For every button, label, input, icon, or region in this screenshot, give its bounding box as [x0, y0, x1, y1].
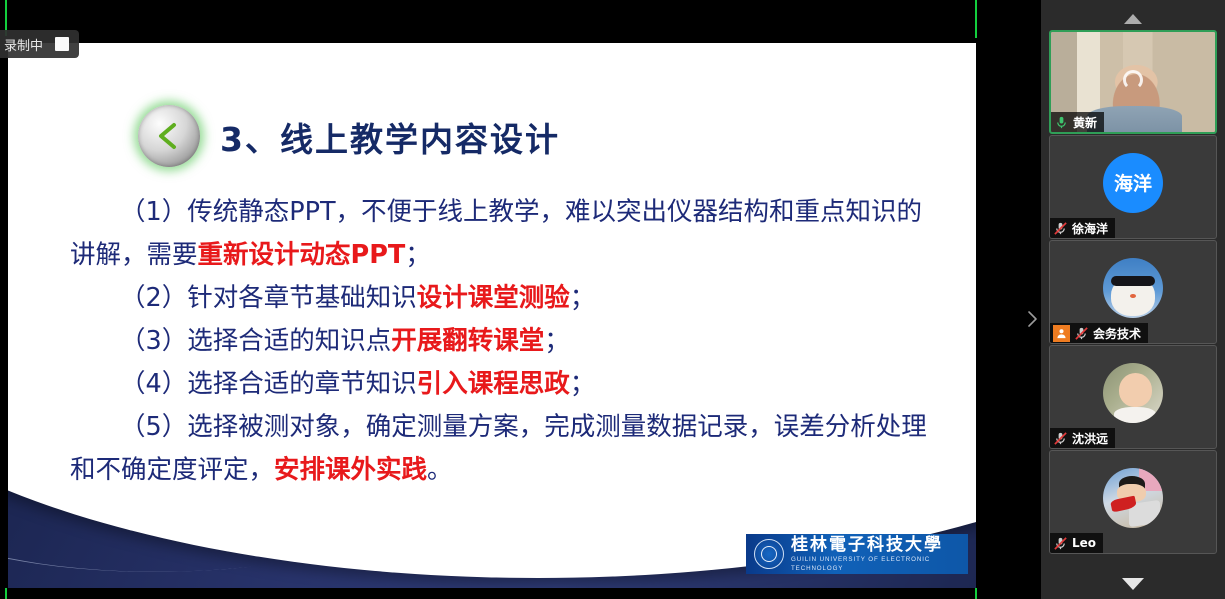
- highlighted-text: 引入课程思政: [417, 369, 570, 399]
- nameplate: 黄新: [1051, 112, 1104, 132]
- avatar: [1103, 258, 1163, 318]
- slide-body: （1）传统静态PPT，不便于线上教学，难以突出仪器结构和重点知识的讲解，需要重新…: [70, 191, 930, 492]
- slide-title: 3、线上教学内容设计: [220, 113, 560, 161]
- participant-name: Leo: [1072, 536, 1096, 550]
- mic-on-icon: [1054, 115, 1069, 130]
- participant-name: 黄新: [1073, 114, 1097, 131]
- avatar: 海洋: [1103, 153, 1163, 213]
- university-name-cn: 桂林電子科技大學: [791, 536, 960, 555]
- triangle-up-icon: [1124, 14, 1142, 24]
- participant-tile[interactable]: 海洋 徐海洋: [1049, 135, 1217, 239]
- body-text: ；: [544, 326, 570, 356]
- highlighted-text: 安排课外实践: [274, 455, 427, 485]
- share-border-left-bottom: [5, 588, 7, 599]
- slide-bullet-5: （5）选择被测对象，确定测量方案，完成测量数据记录，误差分析处理和不确定度评定，…: [70, 406, 930, 492]
- university-logo: 桂林電子科技大學 GUILIN UNIVERSITY OF ELECTRONIC…: [746, 534, 968, 574]
- meeting-screen: 录制中 3、线上教学内容设计 （1）传统静态PPT，不便于线上教学，难以突出仪器…: [0, 0, 1225, 599]
- participant-tile[interactable]: 沈洪远: [1049, 345, 1217, 449]
- participant-tile[interactable]: Leo: [1049, 450, 1217, 554]
- participant-name: 徐海洋: [1072, 220, 1108, 237]
- participant-name: 会务技术: [1093, 325, 1141, 342]
- scroll-up-button[interactable]: [1041, 0, 1225, 30]
- body-text: （3）选择合适的知识点: [120, 326, 391, 356]
- share-border-right: [975, 0, 977, 38]
- body-text: （2）针对各章节基础知识: [120, 283, 417, 313]
- body-text: （4）选择合适的章节知识: [120, 369, 417, 399]
- nameplate: 会务技术: [1050, 323, 1148, 343]
- highlighted-text: 设计课堂测验: [417, 283, 570, 313]
- participant-tile[interactable]: 黄新: [1049, 30, 1217, 134]
- highlighted-text: 开展翻转课堂: [391, 326, 544, 356]
- chevron-right-icon[interactable]: [1024, 305, 1040, 333]
- body-text: （5）选择被测对象，确定测量方案，完成测量数据记录，误差分析处理和不确定度评定，: [70, 412, 927, 485]
- participant-filmstrip: 黄新 海洋 徐海洋: [1041, 0, 1225, 599]
- slide-bullet-1: （1）传统静态PPT，不便于线上教学，难以突出仪器结构和重点知识的讲解，需要重新…: [70, 191, 930, 277]
- mic-muted-icon: [1053, 431, 1068, 446]
- mic-muted-icon: [1053, 536, 1068, 551]
- shared-slide: 3、线上教学内容设计 （1）传统静态PPT，不便于线上教学，难以突出仪器结构和重…: [8, 43, 976, 588]
- nameplate: 沈洪远: [1050, 428, 1115, 448]
- slide-bullet-4: （4）选择合适的章节知识引入课程思政；: [70, 363, 930, 406]
- mic-muted-icon: [1053, 221, 1068, 236]
- slide-bullet-2: （2）针对各章节基础知识设计课堂测验；: [70, 277, 930, 320]
- university-seal-icon: [754, 539, 784, 569]
- scroll-down-button[interactable]: [1041, 569, 1225, 599]
- body-text: ；: [405, 240, 431, 270]
- participant-name: 沈洪远: [1072, 430, 1108, 447]
- recording-label: 录制中: [4, 35, 43, 54]
- avatar-initials: 海洋: [1114, 169, 1152, 196]
- recording-indicator[interactable]: 录制中: [0, 30, 79, 58]
- participant-tiles: 黄新 海洋 徐海洋: [1041, 30, 1225, 569]
- host-person-icon: [1053, 325, 1070, 342]
- stop-recording-button[interactable]: [55, 37, 69, 51]
- body-text: 。: [427, 455, 453, 485]
- body-text: ；: [570, 283, 596, 313]
- triangle-down-icon: [1122, 578, 1144, 590]
- body-text: ；: [570, 369, 596, 399]
- mic-muted-icon: [1074, 326, 1089, 341]
- university-name-en: GUILIN UNIVERSITY OF ELECTRONIC TECHNOLO…: [791, 555, 960, 573]
- slide-bullet-3: （3）选择合适的知识点开展翻转课堂；: [70, 320, 930, 363]
- share-border-right-bottom: [975, 588, 977, 599]
- participant-tile[interactable]: 会务技术: [1049, 240, 1217, 344]
- chevron-left-circle-icon: [138, 105, 200, 167]
- avatar: [1103, 363, 1163, 423]
- nameplate: 徐海洋: [1050, 218, 1115, 238]
- nameplate: Leo: [1050, 533, 1103, 553]
- highlighted-text: 重新设计动态PPT: [198, 240, 406, 270]
- avatar: [1103, 468, 1163, 528]
